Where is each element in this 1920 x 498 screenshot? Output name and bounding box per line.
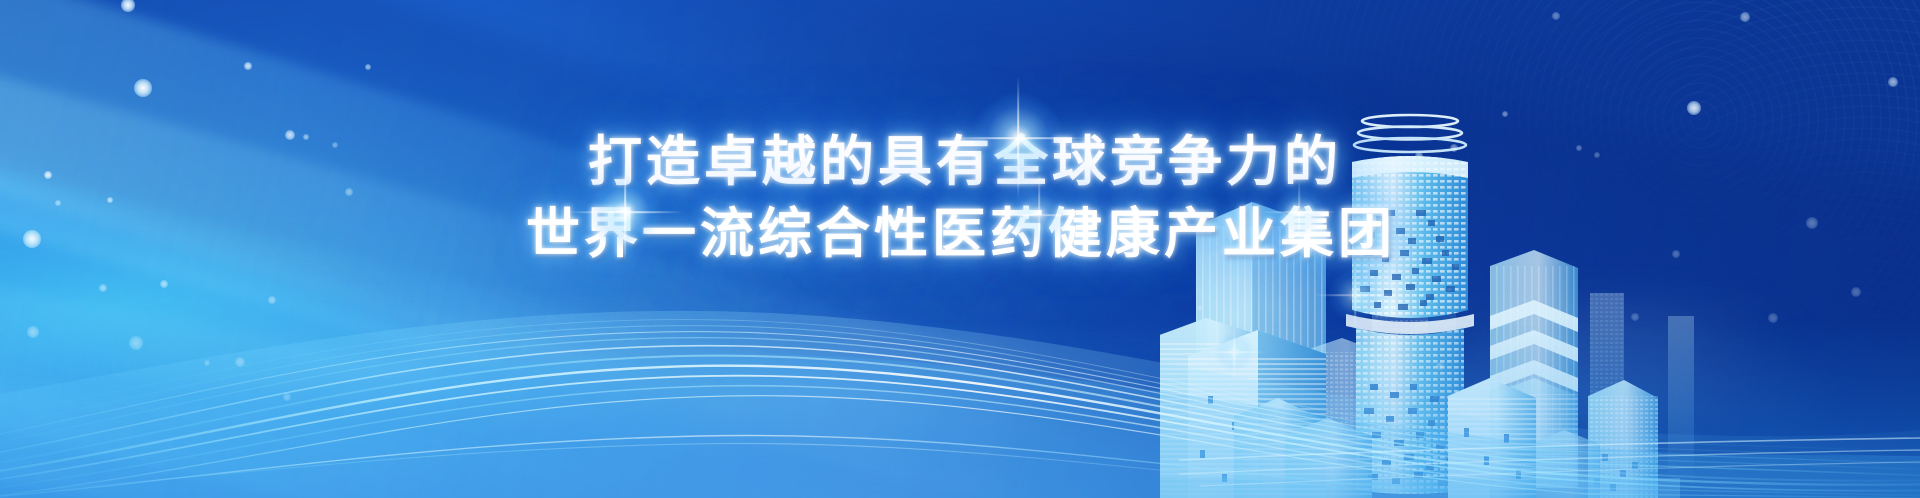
star-dot — [365, 64, 371, 70]
headline-line-2: 世界一流综合性医药健康产业集团 — [0, 198, 1920, 270]
star-dot — [268, 296, 276, 304]
star-dot — [99, 284, 107, 292]
star-dot — [121, 0, 135, 12]
water-ground-plane — [0, 318, 1920, 498]
star-dot — [134, 79, 152, 97]
star-dot — [160, 280, 168, 288]
headline-block: 打造卓越的具有全球竞争力的 世界一流综合性医药健康产业集团 — [0, 126, 1920, 270]
star-dot — [244, 62, 252, 70]
star-dot — [1197, 305, 1203, 311]
hero-banner: 打造卓越的具有全球竞争力的 世界一流综合性医药健康产业集团 — [0, 0, 1920, 498]
headline-line-1: 打造卓越的具有全球竞争力的 — [0, 126, 1920, 198]
